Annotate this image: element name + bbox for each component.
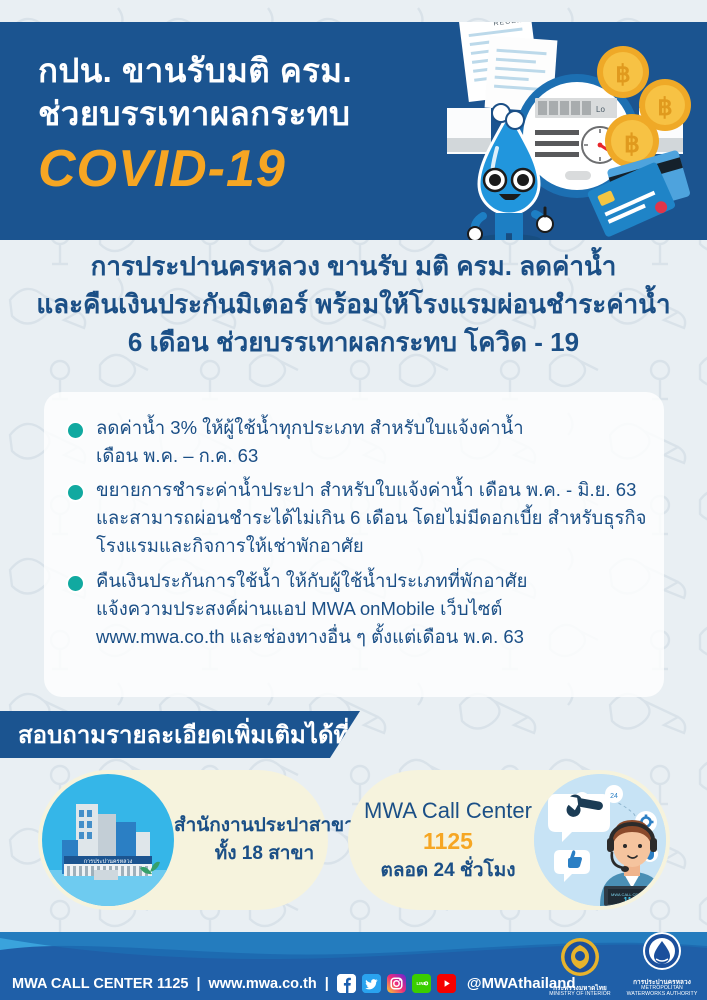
youtube-icon[interactable] (437, 974, 456, 993)
call-center-hours: ตลอด 24 ชั่วโมง (362, 857, 534, 885)
footer-website[interactable]: www.mwa.co.th (209, 976, 317, 992)
svg-text:Lo: Lo (596, 105, 605, 114)
measure-3-line-2: แจ้งความประสงค์ผ่านแอป MWA onMobile เว็บ… (96, 595, 527, 623)
svg-text:1125: 1125 (623, 896, 641, 905)
ministry-logo-en: MINISTRY OF INTERIOR (549, 991, 610, 997)
bullet-dot-icon (68, 485, 83, 500)
line-icon[interactable]: LINE (412, 974, 431, 993)
bullet-dot-icon (68, 423, 83, 438)
measure-3-line-3: www.mwa.co.th และช่องทางอื่น ๆ ตั้งแต่เด… (96, 623, 527, 651)
call-center-number: 1125 (362, 826, 534, 857)
measures-list: ลดค่าน้ำ 3% ให้ผู้ใช้น้ำทุกประเภท สำหรับ… (64, 414, 644, 651)
mwa-logo: การประปานครหลวง METROPOLITAN WATERWORKS … (625, 932, 699, 998)
subtitle-line-1: การประปานครหลวง ขานรับ มติ ครม. ลดค่าน้ำ (0, 248, 707, 286)
office-building-icon: การประปานครหลวง (42, 774, 174, 906)
branch-office-text: สำนักงานประปาสาขา ทั้ง 18 สาขา (174, 812, 355, 867)
instagram-icon[interactable] (387, 974, 406, 993)
measure-3-line-1: คืนเงินประกันการใช้น้ำ ให้กับผู้ใช้น้ำปร… (96, 567, 527, 595)
footer-bar: MWA CALL CENTER 1125 | www.mwa.co.th | L… (0, 932, 707, 1000)
bullet-dot-icon (68, 576, 83, 591)
svg-text:฿: ฿ (624, 130, 640, 158)
measure-text: ขยายการชำระค่าน้ำประปา สำหรับใบแจ้งค่าน้… (96, 476, 646, 560)
svg-text:24: 24 (610, 793, 618, 800)
subtitle-line-3: 6 เดือน ช่วยบรรเทาผลกระทบ โควิด - 19 (0, 324, 707, 362)
list-item: ลดค่าน้ำ 3% ให้ผู้ใช้น้ำทุกประเภท สำหรับ… (64, 414, 644, 470)
footer-separator-1: | (196, 976, 200, 992)
measures-card: ลดค่าน้ำ 3% ให้ผู้ใช้น้ำทุกประเภท สำหรับ… (44, 392, 664, 697)
header-title-line-2: ช่วยบรรเทาผลกระทบ (38, 93, 438, 136)
measure-2-line-2: และสามารถผ่อนชำระได้ไม่เกิน 6 เดือน โดยไ… (96, 504, 646, 532)
header-title: กปน. ขานรับมติ ครม. ช่วยบรรเทาผลกระทบ CO… (38, 50, 438, 200)
measure-text: คืนเงินประกันการใช้น้ำ ให้กับผู้ใช้น้ำปร… (96, 567, 527, 651)
call-center-card: MWA Call Center 1125 ตลอด 24 ชั่วโมง i 2… (348, 770, 670, 910)
measure-2-line-3: โรงแรมและกิจการให้เช่าพักอาศัย (96, 532, 646, 560)
measure-1-line-2: เดือน พ.ค. – ก.ค. 63 (96, 442, 524, 470)
header-illustration: RECEIPT Lo (417, 22, 707, 240)
contact-banner: สอบถามรายละเอียดเพิ่มเติมได้ที่ (0, 711, 360, 758)
footer-call-center: MWA CALL CENTER 1125 (12, 976, 188, 992)
list-item: คืนเงินประกันการใช้น้ำ ให้กับผู้ใช้น้ำปร… (64, 567, 644, 651)
measure-text: ลดค่าน้ำ 3% ให้ผู้ใช้น้ำทุกประเภท สำหรับ… (96, 414, 524, 470)
subtitle-block: การประปานครหลวง ขานรับ มติ ครม. ลดค่าน้ำ… (0, 248, 707, 362)
svg-text:฿: ฿ (615, 61, 630, 88)
list-item: ขยายการชำระค่าน้ำประปา สำหรับใบแจ้งค่าน้… (64, 476, 644, 560)
contact-cards: การประปานครหลวง (0, 762, 707, 927)
call-center-text: MWA Call Center 1125 ตลอด 24 ชั่วโมง (362, 796, 534, 884)
subtitle-line-2: และคืนเงินประกันมิเตอร์ พร้อมให้โรงแรมผ่… (0, 286, 707, 324)
covid-label: COVID-19 (38, 140, 438, 200)
call-center-heading: MWA Call Center (362, 796, 534, 826)
footer-logos: กระทรวงมหาดไทย MINISTRY OF INTERIOR การป… (543, 932, 699, 998)
branch-office-card: การประปานครหลวง (38, 770, 328, 910)
header-title-line-1: กปน. ขานรับมติ ครม. (38, 50, 438, 93)
twitter-icon[interactable] (362, 974, 381, 993)
branch-line-1: สำนักงานประปาสาขา (174, 812, 355, 840)
measure-2-line-1: ขยายการชำระค่าน้ำประปา สำหรับใบแจ้งค่าน้… (96, 476, 646, 504)
svg-text:การประปานครหลวง: การประปานครหลวง (84, 858, 133, 865)
measure-1-line-1: ลดค่าน้ำ 3% ให้ผู้ใช้น้ำทุกประเภท สำหรับ… (96, 414, 524, 442)
headset-agent-icon: i 24 ฿ (534, 774, 666, 906)
footer-content: MWA CALL CENTER 1125 | www.mwa.co.th | L… (12, 974, 576, 993)
svg-text:฿: ฿ (657, 94, 672, 121)
header-banner: กปน. ขานรับมติ ครม. ช่วยบรรเทาผลกระทบ CO… (0, 22, 707, 240)
ministry-of-interior-logo: กระทรวงมหาดไทย MINISTRY OF INTERIOR (543, 935, 617, 998)
contact-banner-label: สอบถามรายละเอียดเพิ่มเติมได้ที่ (0, 715, 349, 754)
branch-line-2: ทั้ง 18 สาขา (174, 840, 355, 868)
footer-separator-2: | (325, 976, 329, 992)
mwa-logo-en: METROPOLITAN WATERWORKS AUTHORITY (627, 985, 698, 997)
facebook-icon[interactable] (337, 974, 356, 993)
